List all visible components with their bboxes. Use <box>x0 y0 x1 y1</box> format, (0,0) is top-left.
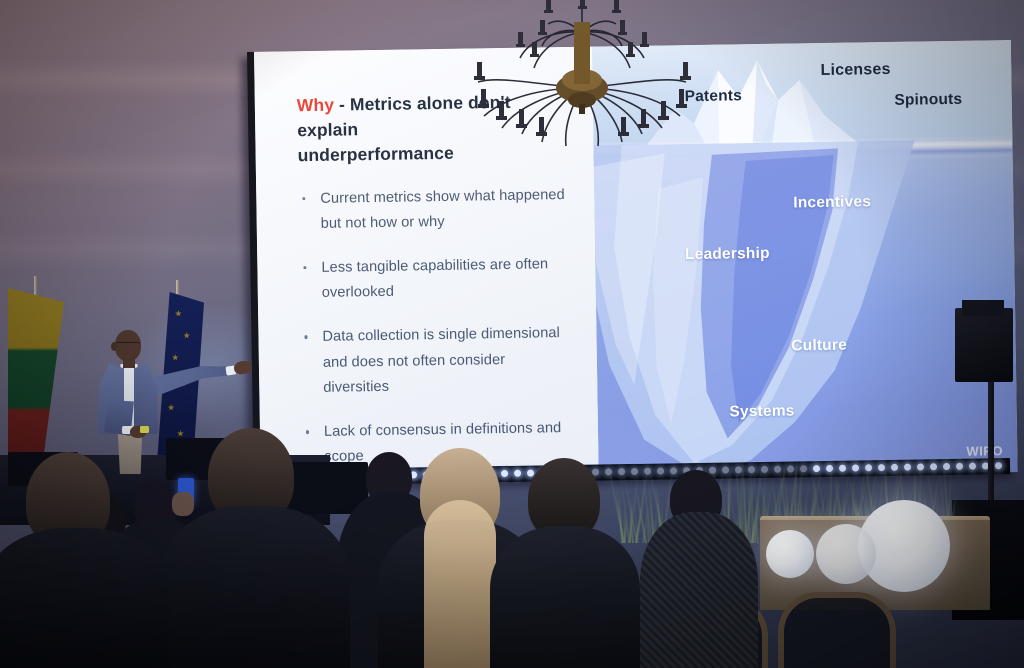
led-dot <box>969 463 976 470</box>
led-dot <box>956 463 963 470</box>
chair <box>778 592 896 668</box>
iceberg-label-leadership: Leadership <box>685 245 770 264</box>
iceberg-label-culture: Culture <box>791 336 847 355</box>
bullet-text: Less tangible capabilities are often ove… <box>321 256 548 301</box>
bullet-dot-icon <box>302 197 305 200</box>
chandelier <box>432 0 732 162</box>
pa-speaker-cabinet <box>955 308 1013 382</box>
list-item: Data collection is single dimensional an… <box>300 321 575 401</box>
led-dot <box>501 470 508 477</box>
slide-title-highlight: Why <box>297 95 335 116</box>
glasses-icon <box>116 342 140 347</box>
bullet-text: Current metrics show what happened but n… <box>320 187 565 232</box>
presenter-pointing-hand <box>233 359 253 375</box>
audience-hand <box>172 492 194 516</box>
iceberg-label-licenses: Licenses <box>820 61 890 80</box>
audience-body <box>490 526 640 668</box>
audience-body <box>160 506 350 668</box>
slide-bullet-list: Current metrics show what happened but n… <box>298 182 576 470</box>
iceberg-label-incentives: Incentives <box>793 193 871 212</box>
audience-body <box>640 512 758 668</box>
list-item: Less tangible capabilities are often ove… <box>299 252 573 307</box>
iceberg-label-spinouts: Spinouts <box>894 90 962 109</box>
eu-star-icon <box>175 310 182 317</box>
audience-body <box>0 528 170 668</box>
presenter-pointing-arm <box>148 366 234 400</box>
iceberg-label-systems: Systems <box>729 402 794 421</box>
led-dot <box>514 470 521 477</box>
bullet-dot-icon <box>306 430 309 433</box>
bullet-dot-icon <box>304 336 307 339</box>
slide-title-line2: underperformance <box>297 142 454 164</box>
orb-lamp <box>766 530 814 578</box>
iceberg-submerged-mass <box>592 141 943 479</box>
wipo-logo: WIPO <box>966 443 1003 459</box>
presentation-photo-scene: Why - Metrics alone don't explain underp… <box>0 0 1024 668</box>
bullet-text: Data collection is single dimensional an… <box>322 326 560 396</box>
audience-hair <box>424 500 496 668</box>
presentation-clicker <box>140 426 149 433</box>
list-item: Current metrics show what happened but n… <box>298 182 572 237</box>
led-dot <box>995 462 1002 469</box>
bullet-dot-icon <box>303 266 306 269</box>
orb-lamp <box>816 524 876 584</box>
